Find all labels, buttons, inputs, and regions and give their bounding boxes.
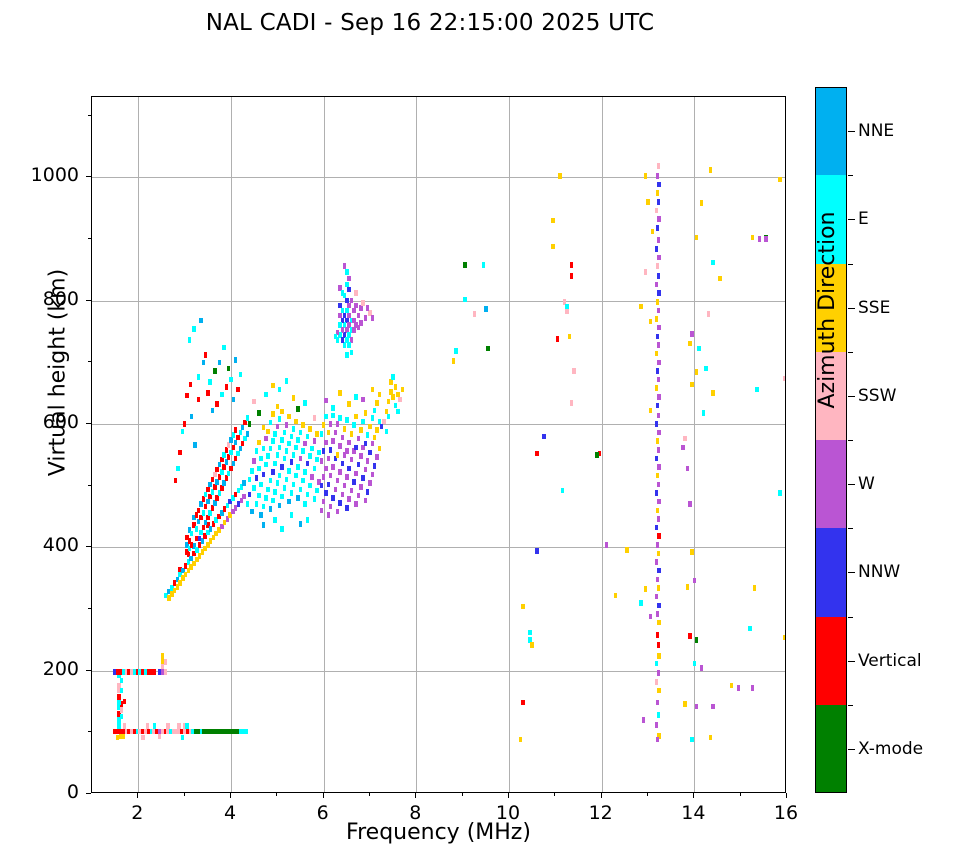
data-point [655, 679, 659, 685]
data-point [655, 594, 659, 600]
data-point [530, 642, 534, 648]
data-point [236, 435, 240, 441]
data-point [280, 526, 284, 532]
data-point [185, 393, 189, 399]
data-point [116, 735, 120, 741]
data-point [204, 492, 208, 498]
data-point [338, 500, 342, 506]
data-point [345, 269, 349, 275]
data-point [702, 410, 706, 416]
data-point [271, 438, 275, 444]
data-point [700, 665, 704, 671]
data-point [246, 415, 250, 421]
data-point [195, 512, 199, 518]
data-point [208, 510, 212, 516]
data-point [656, 438, 660, 444]
data-point [657, 712, 661, 718]
colorbar-boundary-tick [848, 440, 853, 441]
data-point [296, 406, 300, 412]
data-point [352, 422, 356, 428]
x-tick [693, 793, 694, 798]
data-point [206, 515, 210, 521]
data-point [595, 452, 599, 458]
data-point [657, 163, 661, 169]
x-minor-tick [554, 793, 555, 796]
data-point [290, 512, 294, 518]
data-point [655, 661, 659, 667]
y-minor-tick [88, 115, 91, 116]
data-point [758, 236, 762, 242]
data-point [255, 501, 259, 507]
data-point [655, 421, 659, 427]
data-point [484, 306, 488, 312]
data-point [242, 494, 246, 500]
data-point [208, 494, 212, 500]
data-point [287, 499, 291, 505]
x-minor-tick [740, 793, 741, 796]
data-point [324, 466, 328, 472]
data-point [188, 337, 192, 343]
data-point [361, 397, 365, 403]
data-point [271, 383, 275, 389]
data-point [303, 441, 307, 447]
data-point [266, 453, 270, 459]
data-point [204, 504, 208, 510]
data-point [361, 475, 365, 481]
data-point [259, 482, 263, 488]
data-point [368, 480, 372, 486]
data-point [301, 448, 305, 454]
x-minor-tick [462, 793, 463, 796]
data-point [364, 410, 368, 416]
data-point [341, 435, 345, 441]
data-point [320, 508, 324, 514]
data-point [361, 419, 365, 425]
data-point [350, 431, 354, 437]
y-tick [86, 793, 91, 794]
data-point [542, 434, 546, 440]
data-point [324, 490, 328, 496]
data-point [308, 453, 312, 459]
data-point [354, 303, 358, 309]
data-point [657, 620, 661, 626]
x-tick [137, 793, 138, 798]
data-point [211, 408, 215, 414]
data-point [371, 387, 375, 393]
data-point [211, 489, 215, 495]
data-point [656, 700, 660, 706]
data-point [656, 542, 660, 548]
data-point [354, 445, 358, 451]
data-point [269, 506, 273, 512]
colorbar-tick [848, 661, 855, 662]
data-point [371, 315, 375, 321]
data-point [338, 469, 342, 475]
data-point [317, 450, 321, 456]
data-point [657, 360, 661, 366]
data-point [183, 421, 187, 427]
data-point [287, 414, 291, 420]
data-point [215, 401, 219, 407]
data-point [225, 475, 229, 481]
data-point [215, 479, 219, 485]
data-point [220, 485, 224, 491]
data-point [570, 262, 574, 268]
data-point [327, 430, 331, 436]
colorbar-boundary-tick [848, 175, 853, 176]
y-tick-label: 1000 [9, 164, 79, 186]
data-point [656, 632, 660, 638]
data-point [269, 446, 273, 452]
data-point [380, 424, 384, 430]
data-point [657, 642, 661, 648]
data-point [656, 403, 660, 409]
data-point [285, 477, 289, 483]
data-point [657, 394, 661, 400]
data-point [473, 311, 477, 317]
data-point [378, 446, 382, 452]
scatter-layer [92, 97, 785, 792]
data-point [257, 440, 261, 446]
data-point [357, 462, 361, 468]
data-point [364, 441, 368, 447]
data-point [315, 457, 319, 463]
data-point [287, 441, 291, 447]
data-point [308, 483, 312, 489]
data-point [197, 397, 201, 403]
data-point [324, 398, 328, 404]
data-point [565, 309, 569, 315]
data-point [294, 445, 298, 451]
data-point [315, 431, 319, 437]
data-point [639, 600, 643, 606]
y-minor-tick [88, 238, 91, 239]
data-point [347, 440, 351, 446]
data-point [264, 495, 268, 501]
data-point [373, 408, 377, 414]
data-point [232, 445, 236, 451]
data-point [197, 508, 201, 514]
y-minor-tick [88, 485, 91, 486]
data-point [239, 430, 243, 436]
data-point [748, 626, 752, 632]
data-point [239, 446, 243, 452]
data-point [354, 290, 358, 296]
data-point [320, 431, 324, 437]
data-point [655, 385, 659, 391]
data-point [751, 235, 755, 241]
data-point [301, 422, 305, 428]
data-point [329, 421, 333, 427]
data-point [486, 346, 490, 352]
data-point [195, 526, 199, 532]
data-point [252, 458, 256, 464]
data-point [350, 457, 354, 463]
data-point [236, 387, 240, 393]
data-point [313, 496, 317, 502]
data-point [366, 458, 370, 464]
data-point [243, 420, 247, 426]
data-point [345, 505, 349, 511]
data-point [262, 522, 266, 528]
data-point [657, 688, 661, 694]
data-point [398, 397, 402, 403]
data-point [688, 341, 692, 347]
colorbar-band-x-mode[interactable] [816, 705, 846, 793]
data-point [655, 282, 659, 288]
colorbar-band-nnw[interactable] [816, 528, 846, 617]
data-point [329, 504, 333, 510]
data-point [657, 516, 661, 522]
data-point [195, 536, 199, 542]
data-point [695, 637, 699, 643]
data-point [166, 723, 170, 729]
data-point [158, 734, 162, 740]
data-point [656, 577, 660, 583]
data-point [693, 578, 697, 584]
y-tick-label: 0 [9, 781, 79, 803]
data-point [347, 287, 351, 293]
data-point [271, 469, 275, 475]
data-point [234, 456, 238, 462]
data-point [324, 414, 328, 420]
data-point [343, 426, 347, 432]
data-point [371, 441, 375, 447]
data-point [229, 377, 233, 383]
data-point [296, 464, 300, 470]
data-point [324, 440, 328, 446]
colorbar-boundary-tick [848, 352, 853, 353]
data-point [276, 452, 280, 458]
colorbar-label-vertical: Vertical [858, 651, 922, 671]
y-tick-label: 200 [9, 658, 79, 680]
data-point [657, 273, 661, 279]
data-point [222, 452, 226, 458]
data-point [656, 473, 660, 479]
x-minor-tick [369, 793, 370, 796]
data-point [657, 499, 661, 505]
data-point [690, 331, 694, 337]
data-point [709, 167, 713, 173]
data-point [269, 478, 273, 484]
data-point [551, 218, 555, 224]
data-point [644, 173, 648, 179]
data-point [269, 420, 273, 426]
data-point [401, 387, 405, 393]
data-point [190, 542, 194, 548]
data-point [368, 424, 372, 430]
y-tick [86, 300, 91, 301]
data-point [394, 384, 398, 390]
data-point [657, 585, 661, 591]
data-point [338, 443, 342, 449]
colorbar-band-vertical[interactable] [816, 617, 846, 706]
data-point [174, 478, 178, 484]
data-point [313, 438, 317, 444]
data-point [117, 700, 121, 706]
data-point [482, 262, 486, 268]
colorbar-label-nnw: NNW [858, 562, 900, 582]
data-point [211, 477, 215, 483]
data-point [259, 512, 263, 518]
data-point [264, 392, 268, 398]
data-point [570, 400, 574, 406]
data-point [320, 458, 324, 464]
data-point [656, 225, 660, 231]
data-point [657, 413, 661, 419]
data-point [278, 445, 282, 451]
data-point [649, 408, 653, 414]
data-point [347, 466, 351, 472]
data-point [649, 614, 653, 620]
data-point [204, 520, 208, 526]
colorbar-tick [848, 484, 855, 485]
data-point [199, 501, 203, 507]
data-point [242, 480, 246, 486]
data-point [195, 547, 199, 553]
data-point [778, 490, 782, 496]
data-point [651, 229, 655, 235]
data-point [778, 177, 782, 183]
data-point [551, 244, 555, 250]
colorbar-band-w[interactable] [816, 440, 846, 529]
data-point [334, 487, 338, 493]
data-point [164, 669, 168, 675]
data-point [283, 456, 287, 462]
data-point [387, 414, 391, 420]
data-point [764, 236, 768, 242]
data-point [681, 445, 685, 451]
data-point [313, 415, 317, 421]
data-point [239, 372, 243, 378]
data-point [241, 441, 245, 447]
data-point [227, 471, 231, 477]
data-point [521, 604, 525, 610]
data-point [181, 429, 185, 435]
data-point [375, 400, 379, 406]
data-point [368, 450, 372, 456]
data-point [336, 452, 340, 458]
data-point [283, 485, 287, 491]
data-point [213, 484, 217, 490]
data-point [152, 669, 156, 675]
data-point [262, 446, 266, 452]
data-point [299, 521, 303, 527]
data-point [262, 425, 266, 431]
x-tick [508, 793, 509, 798]
data-point [364, 467, 368, 473]
data-point [278, 387, 282, 393]
data-point [711, 390, 715, 396]
data-point [246, 431, 250, 437]
data-point [322, 474, 326, 480]
data-point [227, 454, 231, 460]
data-point [644, 269, 648, 275]
colorbar-tick [848, 308, 855, 309]
x-tick [601, 793, 602, 798]
data-point [683, 701, 687, 707]
data-point [605, 542, 609, 548]
data-point [657, 670, 661, 676]
data-point [336, 478, 340, 484]
data-point [350, 350, 354, 356]
data-point [322, 448, 326, 454]
data-point [783, 376, 785, 382]
data-point [266, 429, 270, 435]
data-point [285, 422, 289, 428]
data-point [341, 337, 345, 343]
data-point [695, 369, 699, 375]
data-point [206, 390, 210, 396]
data-point [123, 699, 127, 705]
data-point [178, 580, 182, 586]
data-point [241, 425, 245, 431]
data-point [345, 352, 349, 358]
data-point [329, 473, 333, 479]
data-point [276, 424, 280, 430]
x-axis-label: Frequency (MHz) [91, 820, 786, 845]
data-point [310, 474, 314, 480]
data-point [280, 437, 284, 443]
data-point [657, 237, 661, 243]
data-point [359, 320, 363, 326]
data-point [361, 300, 365, 306]
data-point [276, 404, 280, 410]
data-point [656, 611, 660, 617]
data-point [208, 379, 212, 385]
data-point [271, 411, 275, 417]
data-point [246, 501, 250, 507]
data-point [373, 435, 377, 441]
data-point [250, 468, 254, 474]
data-point [280, 494, 284, 500]
data-point [299, 487, 303, 493]
data-point [164, 659, 168, 665]
data-point [463, 262, 467, 268]
data-point [220, 469, 224, 475]
data-point [306, 517, 310, 523]
data-point [236, 451, 240, 457]
data-point [280, 464, 284, 470]
colorbar-band-nne[interactable] [816, 87, 846, 176]
data-point [357, 313, 361, 319]
data-point [271, 498, 275, 504]
data-point [656, 508, 660, 514]
data-point [336, 509, 340, 515]
data-point [359, 427, 363, 433]
data-point [303, 501, 307, 507]
data-point [331, 413, 335, 419]
data-point [338, 415, 342, 421]
data-point [190, 531, 194, 537]
data-point [657, 182, 661, 188]
data-point [753, 585, 757, 591]
data-point [259, 456, 263, 462]
colorbar-label-ssw: SSW [858, 386, 896, 406]
data-point [303, 400, 307, 406]
data-point [656, 263, 660, 269]
data-point [331, 495, 335, 501]
data-point [359, 453, 363, 459]
data-point [561, 488, 565, 494]
data-point [718, 276, 722, 282]
data-point [250, 509, 254, 515]
y-minor-tick [88, 608, 91, 609]
data-point [391, 394, 395, 400]
data-point [117, 723, 121, 729]
data-point [357, 436, 361, 442]
data-point [234, 440, 238, 446]
